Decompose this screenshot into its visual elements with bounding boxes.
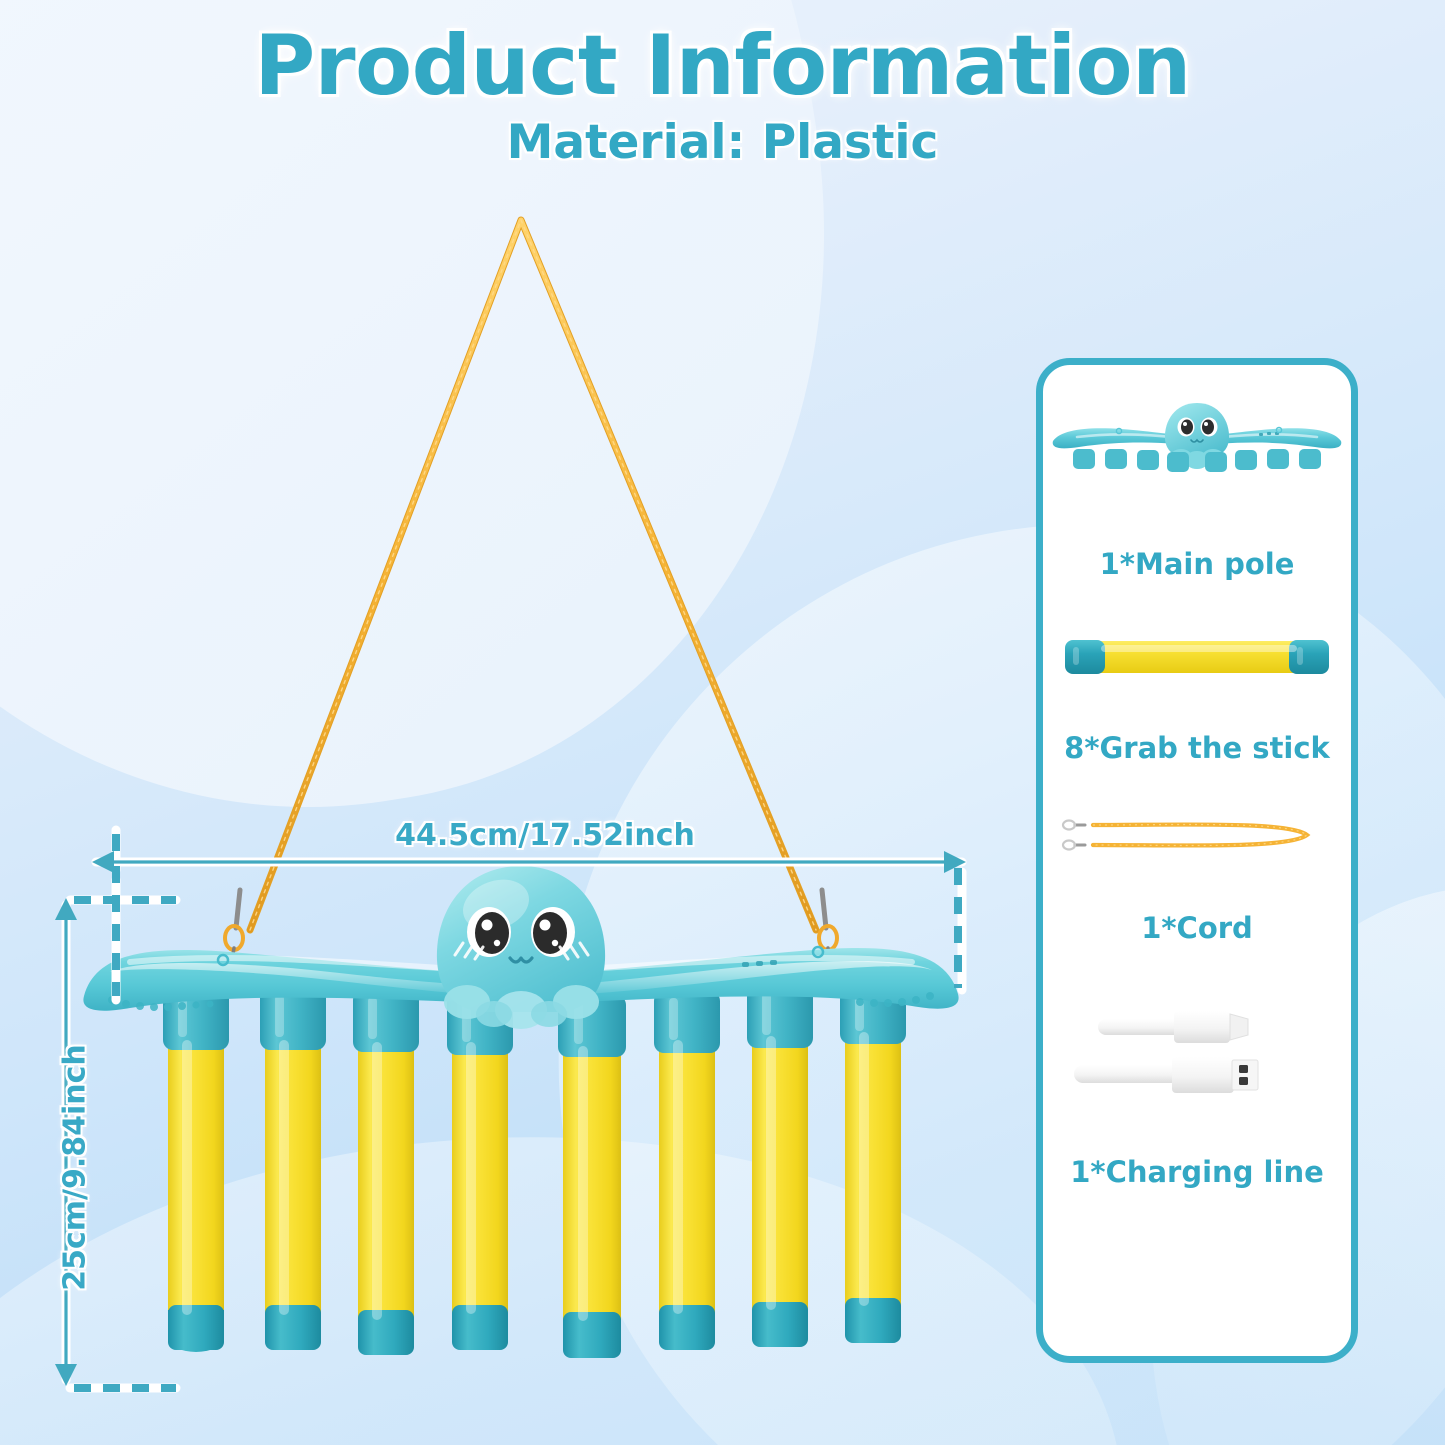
grab-sticks-row (163, 982, 906, 1358)
main-pole-thumbnail (1047, 393, 1347, 485)
main-pole-bar (83, 947, 958, 1011)
background-wave-lower (0, 1085, 1148, 1445)
spec-item-main-pole: 1*Main pole (1043, 393, 1351, 581)
page-title: Product Information (0, 22, 1445, 109)
cord-clip-right (819, 890, 839, 978)
spec-item-charging-line: 1*Charging line (1043, 1001, 1351, 1189)
grab-stick (840, 982, 906, 1343)
parts-list-panel: 1*Main pole (1036, 358, 1358, 1363)
spec-label-grab-stick: 8*Grab the stick (1064, 733, 1330, 765)
usb-a-connector-icon (1074, 1057, 1258, 1093)
hanging-cord (224, 220, 839, 978)
octopus-eyes (467, 907, 575, 957)
octopus-head (437, 866, 605, 1029)
spec-label-charging-line: 1*Charging line (1070, 1157, 1324, 1189)
octopus-tentacle-nubs (444, 985, 599, 1029)
cord-clip-left (224, 890, 244, 978)
grab-stick (558, 995, 626, 1358)
spec-label-main-pole: 1*Main pole (1100, 549, 1295, 581)
header-block: Product Information Material: Plastic (0, 22, 1445, 170)
grab-stick-thumbnail (1061, 633, 1333, 681)
height-dimension-label: 25cm/9.84inch (58, 1013, 93, 1323)
grab-stick (654, 991, 720, 1350)
grab-stick (447, 993, 513, 1350)
grab-stick (353, 990, 419, 1355)
width-dimension-label: 44.5cm/17.52inch (360, 818, 730, 853)
usb-c-connector-icon (1098, 1011, 1248, 1043)
material-subtitle: Material: Plastic (0, 115, 1445, 170)
grab-stick (260, 988, 326, 1350)
grab-stick (163, 988, 229, 1352)
cord-thumbnail (1059, 813, 1335, 857)
grab-stick (747, 986, 813, 1347)
spec-label-cord: 1*Cord (1141, 913, 1253, 945)
spec-item-grab-stick: 8*Grab the stick (1043, 633, 1351, 765)
spec-item-cord: 1*Cord (1043, 813, 1351, 945)
product-information-infographic: Product Information Material: Plastic 44… (0, 0, 1445, 1445)
dimension-guides (55, 830, 966, 1388)
charging-line-thumbnail (1062, 1001, 1332, 1111)
